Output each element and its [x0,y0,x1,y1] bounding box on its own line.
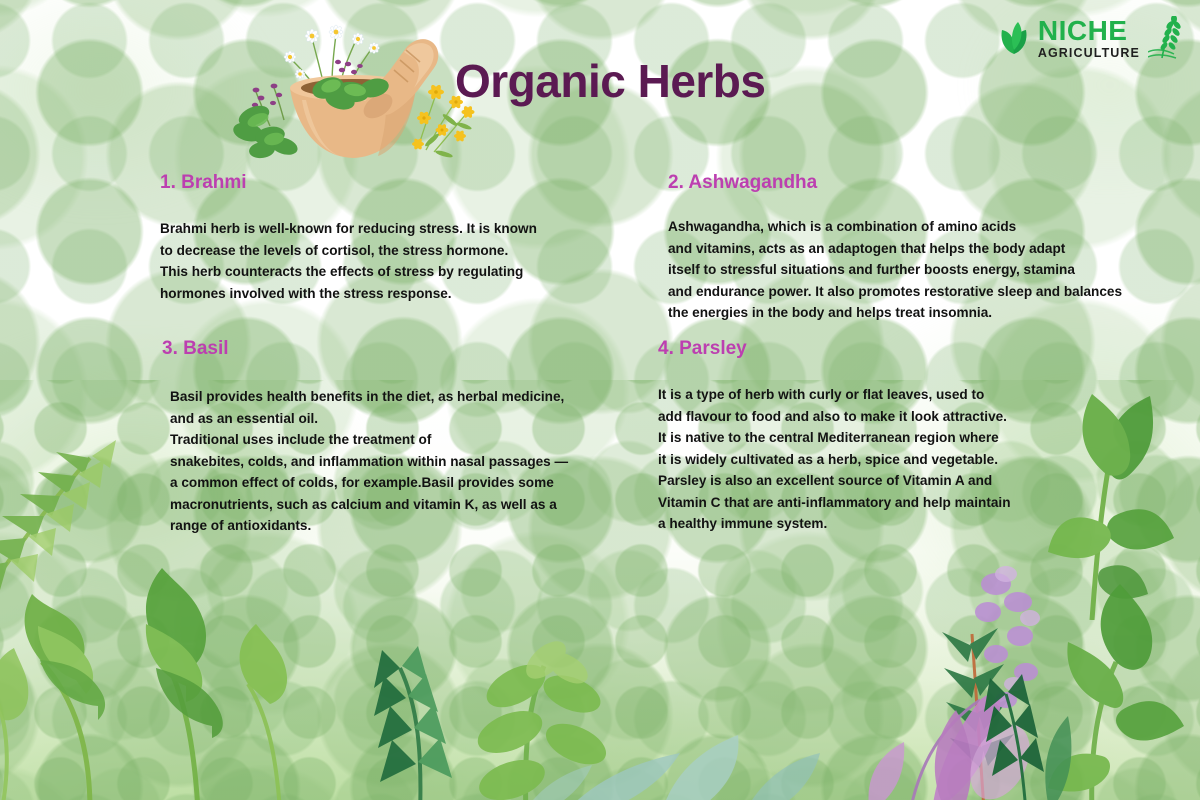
section-ashwagandha: 2. Ashwagandha Ashwagandha, which is a c… [668,172,1168,324]
section-body: Brahmi herb is well-known for reducing s… [160,218,630,304]
logo-primary-text: NICHE [1038,17,1140,45]
section-body: Basil provides health benefits in the di… [170,386,640,537]
rosemary-sprig-icon [0,388,190,618]
lavender-flower-icon [880,550,1080,800]
poster-header: Organic Herbs NICHE AGRICULTURE [0,0,1200,170]
brand-logo[interactable]: NICHE AGRICULTURE [996,16,1182,60]
organic-herbs-poster: Organic Herbs NICHE AGRICULTURE [0,0,1200,800]
purple-basil-leaf-icon [850,512,1200,800]
section-heading: 4. Parsley [658,338,1158,360]
section-heading: 2. Ashwagandha [668,172,1168,194]
wheat-stalk-icon [1148,16,1182,60]
section-brahmi: 1. Brahmi Brahmi herb is well-known for … [160,172,630,304]
section-heading: 3. Basil [162,338,640,360]
section-body: Ashwagandha, which is a combination of a… [668,216,1168,324]
section-heading: 1. Brahmi [160,172,630,194]
parsley-leaf-cluster-icon [0,520,360,800]
section-basil: 3. Basil Basil provides health benefits … [170,338,640,537]
section-body: It is a type of herb with curly or flat … [658,384,1158,535]
mortar-and-pestle-icon [228,8,478,168]
logo-secondary-text: AGRICULTURE [1038,47,1140,60]
section-parsley: 4. Parsley It is a type of herb with cur… [658,338,1158,535]
sage-leaf-icon [520,603,820,800]
page-title: Organic Herbs [455,54,766,108]
mint-stem-icon [300,564,630,800]
three-leaf-icon [996,20,1032,56]
